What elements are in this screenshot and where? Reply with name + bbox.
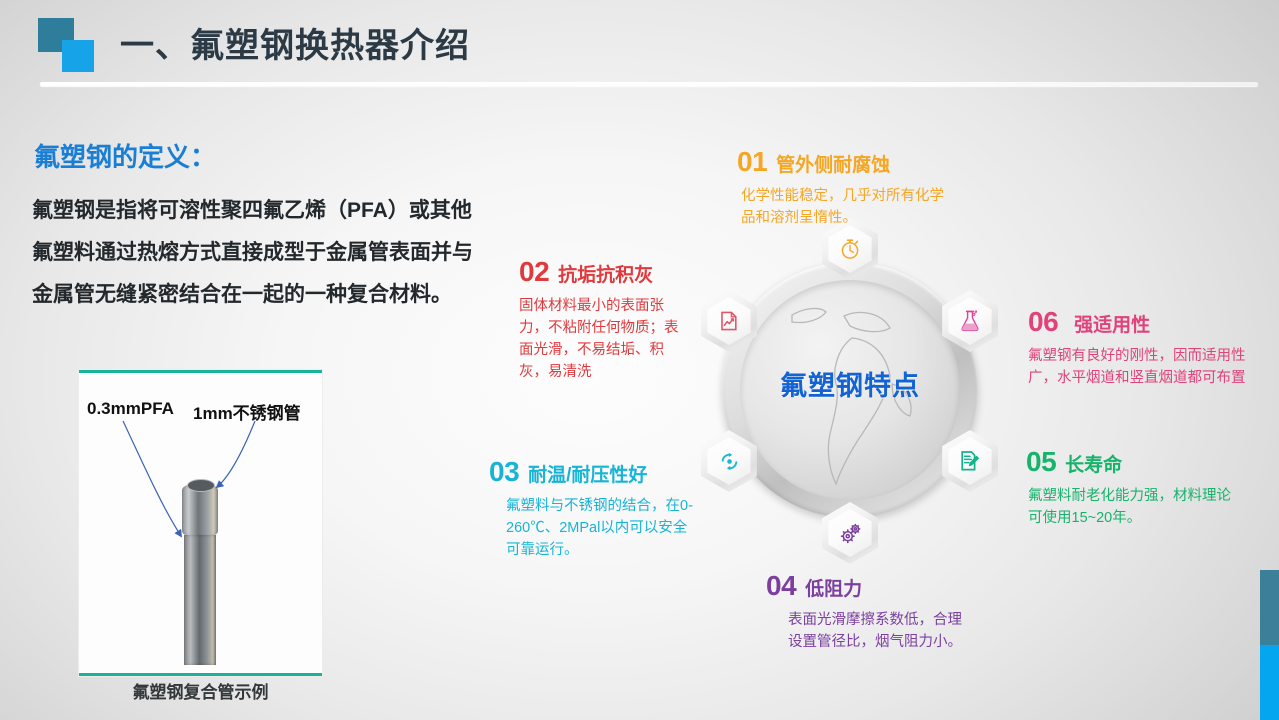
wheel-center-title: 氟塑钢特点 [700, 364, 1000, 403]
feature-head-05: 05长寿命 [1026, 448, 1256, 476]
document-edit-icon [958, 449, 982, 473]
feature-number-02: 02 [519, 256, 549, 287]
definition-body: 氟塑钢是指将可溶性聚四氟乙烯（PFA）或其他氟塑料通过热熔方式直接成型于金属管表… [32, 190, 492, 316]
gears-icon [838, 521, 863, 546]
feature-desc-02: 固体材料最小的表面张力，不粘附任何物质；表面光滑，不易结垢、积灰，易清洗 [519, 295, 679, 383]
feature-desc-05: 氟塑料耐老化能力强，材料理论可使用15~20年。 [1028, 485, 1233, 529]
feature-title-02: 抗垢抗积灰 [558, 265, 653, 286]
composite-pipe-figure: 0.3mmPFA 1mm不锈钢管 [79, 370, 322, 676]
feature-item-01: 01管外侧耐腐蚀 化学性能稳定，几乎对所有化学品和溶剂呈惰性。 [737, 148, 987, 229]
recycle-arrows-icon [717, 449, 742, 474]
page-title: 一、氟塑钢换热器介绍 [120, 18, 470, 67]
feature-title-04: 低阻力 [805, 579, 862, 600]
feature-item-04: 04低阻力 表面光滑摩擦系数低，合理设置管径比，烟气阻力小。 [766, 572, 986, 653]
feature-title-03: 耐温/耐压性好 [528, 465, 647, 486]
feature-number-06: 06 [1028, 306, 1058, 337]
figure-caption: 氟塑钢复合管示例 [79, 678, 322, 703]
feature-head-04: 04低阻力 [766, 572, 986, 600]
wheel-hex-lower-right[interactable] [939, 430, 1001, 492]
feature-desc-01: 化学性能稳定，几乎对所有化学品和溶剂呈惰性。 [741, 185, 956, 229]
edge-accent-bottom [1260, 645, 1279, 720]
feature-title-01: 管外侧耐腐蚀 [776, 155, 890, 176]
feature-desc-03: 氟塑料与不锈钢的结合，在0-260℃、2MPal以内可以安全可靠运行。 [506, 495, 696, 561]
edge-accent-top [1260, 570, 1279, 645]
feature-desc-04: 表面光滑摩擦系数低，合理设置管径比，烟气阻力小。 [788, 609, 963, 653]
stopwatch-icon [838, 237, 862, 261]
wheel-hex-bottom[interactable] [819, 502, 881, 564]
feature-item-03: 03耐温/耐压性好 氟塑料与不锈钢的结合，在0-260℃、2MPal以内可以安全… [489, 458, 709, 561]
feature-wheel: 氟塑钢特点 [700, 240, 1000, 540]
feature-title-05: 长寿命 [1065, 455, 1122, 476]
header-divider [40, 82, 1258, 86]
feature-head-03: 03耐温/耐压性好 [489, 458, 709, 486]
feature-number-01: 01 [737, 146, 767, 177]
feature-number-04: 04 [766, 570, 796, 601]
feature-head-06: 06强适用性 [1028, 308, 1268, 336]
feature-item-02: 02抗垢抗积灰 固体材料最小的表面张力，不粘附任何物质；表面光滑，不易结垢、积灰… [519, 258, 719, 383]
definition-heading: 氟塑钢的定义： [34, 137, 216, 174]
figure-callout-arrows-icon [79, 373, 322, 673]
slide-root: 一、氟塑钢换热器介绍 氟塑钢的定义： 氟塑钢是指将可溶性聚四氟乙烯（PFA）或其… [0, 0, 1279, 720]
flask-icon [958, 309, 982, 333]
feature-head-02: 02抗垢抗积灰 [519, 258, 719, 286]
chart-document-icon [717, 309, 741, 333]
feature-item-05: 05长寿命 氟塑料耐老化能力强，材料理论可使用15~20年。 [1026, 448, 1256, 529]
feature-title-06: 强适用性 [1074, 315, 1150, 336]
feature-number-03: 03 [489, 456, 519, 487]
feature-head-01: 01管外侧耐腐蚀 [737, 148, 987, 176]
header-square-bright-icon [62, 40, 94, 72]
feature-item-06: 06强适用性 氟塑钢有良好的刚性，因而适用性广，水平烟道和竖直烟道都可布置 [1028, 308, 1268, 389]
feature-number-05: 05 [1026, 446, 1056, 477]
wheel-hex-upper-right[interactable] [939, 290, 1001, 352]
feature-desc-06: 氟塑钢有良好的刚性，因而适用性广，水平烟道和竖直烟道都可布置 [1028, 345, 1250, 389]
